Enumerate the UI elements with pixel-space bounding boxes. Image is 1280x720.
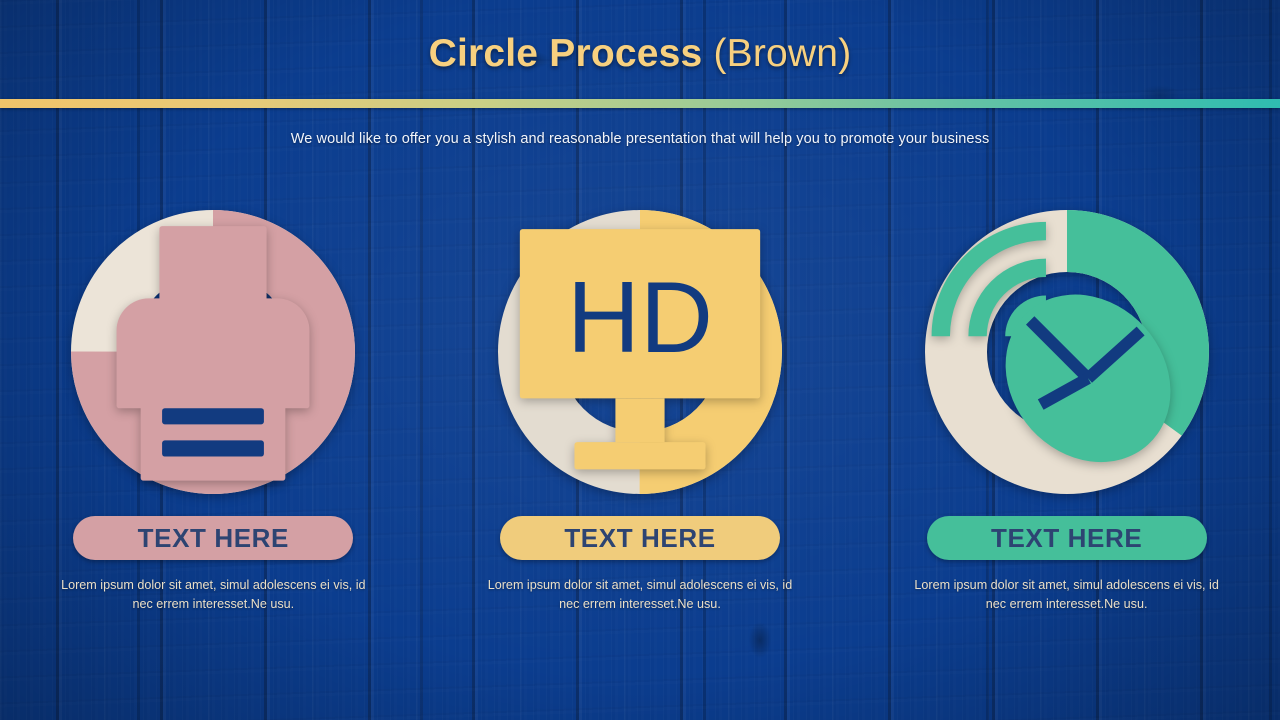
text-here-button-1[interactable]: TEXT HERE	[73, 516, 353, 560]
gradient-divider	[0, 99, 1280, 108]
text-here-button-2[interactable]: TEXT HERE	[500, 516, 780, 560]
donut-svg-1	[71, 210, 355, 494]
process-column-2: HD TEXT HERE Lorem ipsum dolor sit amet,…	[427, 210, 854, 650]
button-label-3: TEXT HERE	[991, 523, 1142, 554]
body-text-2: Lorem ipsum dolor sit amet, simul adoles…	[480, 576, 800, 613]
process-column-1: TEXT HERE Lorem ipsum dolor sit amet, si…	[0, 210, 427, 650]
donut-chart-mouse[interactable]	[925, 210, 1209, 494]
button-label-1: TEXT HERE	[138, 523, 289, 554]
page-title-light: (Brown)	[702, 32, 851, 75]
text-here-button-3[interactable]: TEXT HERE	[927, 516, 1207, 560]
donut-svg-2	[498, 210, 782, 494]
body-text-3: Lorem ipsum dolor sit amet, simul adoles…	[907, 576, 1227, 613]
page-title: Circle Process (Brown)	[0, 28, 1280, 80]
body-text-1: Lorem ipsum dolor sit amet, simul adoles…	[53, 576, 373, 613]
process-columns: TEXT HERE Lorem ipsum dolor sit amet, si…	[0, 210, 1280, 650]
page-title-strong: Circle Process	[429, 32, 703, 75]
process-column-3: TEXT HERE Lorem ipsum dolor sit amet, si…	[853, 210, 1280, 650]
button-label-2: TEXT HERE	[564, 523, 715, 554]
slide-canvas: Circle Process (Brown) We would like to …	[0, 0, 1280, 720]
donut-chart-printer[interactable]	[71, 210, 355, 494]
donut-svg-3	[925, 210, 1209, 494]
donut-chart-hd[interactable]: HD	[498, 210, 782, 494]
page-subtitle: We would like to offer you a stylish and…	[0, 131, 1280, 147]
